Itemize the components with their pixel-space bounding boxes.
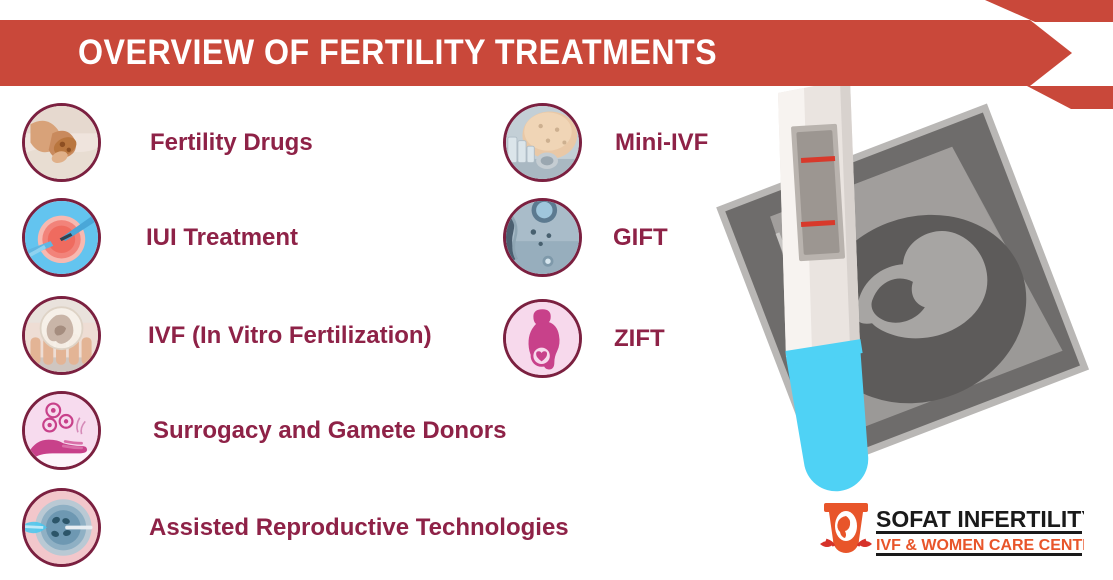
gift-icon	[503, 198, 582, 277]
hero-artwork	[700, 75, 1113, 505]
brand-logo[interactable]: SOFAT INFERTILITY IVF & WOMEN CARE CENTR…	[818, 500, 1084, 560]
list-item-label: Mini-IVF	[615, 129, 708, 157]
list-item-label: Assisted Reproductive Technologies	[149, 514, 569, 542]
list-item[interactable]: Surrogacy and Gamete Donors	[22, 391, 506, 470]
list-item-label: IUI Treatment	[146, 224, 298, 252]
list-item[interactable]: IVF (In Vitro Fertilization)	[22, 296, 432, 375]
surrogacy-icon	[22, 391, 101, 470]
list-item[interactable]: GIFT	[503, 198, 668, 277]
page-title: OVERVIEW OF FERTILITY TREATMENTS	[78, 30, 717, 76]
list-item[interactable]: Mini-IVF	[503, 103, 708, 182]
pregnancy-test-icon	[778, 79, 868, 491]
ivf-icon	[22, 296, 101, 375]
iui-treatment-icon	[22, 198, 101, 277]
logo-primary-text: SOFAT INFERTILITY	[876, 506, 1084, 532]
logo-secondary-text: IVF & WOMEN CARE CENTRE	[876, 537, 1084, 554]
banner-top-tail	[985, 0, 1113, 22]
infographic-canvas: OVERVIEW OF FERTILITY TREATMENTS	[0, 0, 1113, 580]
list-item-label: Surrogacy and Gamete Donors	[153, 417, 506, 445]
list-item[interactable]: Fertility Drugs	[22, 103, 313, 182]
list-item[interactable]: Assisted Reproductive Technologies	[22, 488, 569, 567]
sofat-logo-mark-icon	[820, 503, 872, 553]
list-item[interactable]: ZIFT	[503, 299, 665, 378]
ultrasound-photo-icon	[716, 103, 1089, 473]
art-icon	[22, 488, 101, 567]
list-item-label: Fertility Drugs	[150, 129, 313, 157]
mini-ivf-icon	[503, 103, 582, 182]
zift-icon	[503, 299, 582, 378]
list-item[interactable]: IUI Treatment	[22, 198, 298, 277]
fertility-drugs-icon	[22, 103, 101, 182]
list-item-label: IVF (In Vitro Fertilization)	[148, 322, 432, 350]
list-item-label: ZIFT	[614, 325, 665, 353]
list-item-label: GIFT	[613, 224, 668, 252]
